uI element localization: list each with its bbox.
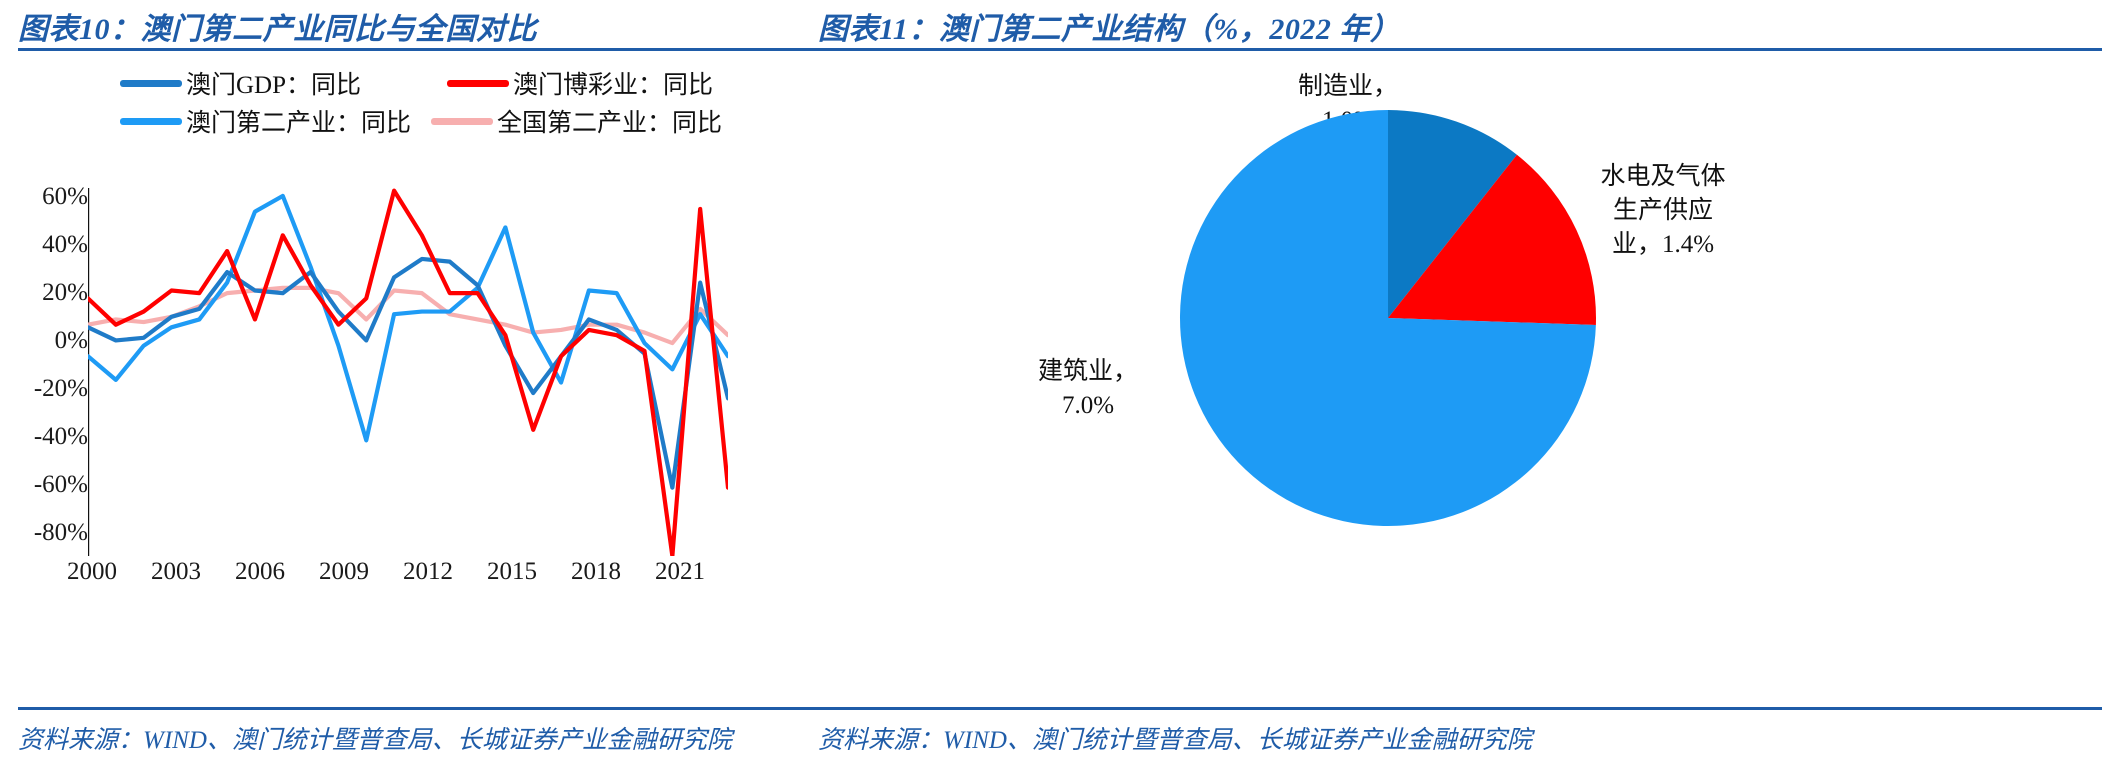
xtick-label-6: 2018 — [554, 558, 638, 586]
pie-label-construction: 建筑业， 7.0% — [988, 355, 1188, 423]
figure-11-footer-rule — [818, 707, 2102, 710]
figure-11-source: 资料来源：WIND、澳门统计暨普查局、长城证券产业金融研究院 — [818, 720, 1532, 756]
legend-label-national-secondary: 全国第二产业：同比 — [497, 103, 722, 139]
legend-row-2: 澳门第二产业：同比 全国第二产业：同比 — [10, 102, 730, 140]
figure-10-title: 图表10：澳门第二产业同比与全国对比 — [18, 4, 537, 48]
legend-row-1: 澳门GDP：同比 澳门博彩业：同比 — [10, 64, 730, 102]
legend-swatch-gaming — [447, 80, 509, 87]
ytick-label-1: 40% — [10, 231, 88, 259]
xtick-label-7: 2021 — [638, 558, 722, 586]
legend-label-gaming: 澳门博彩业：同比 — [513, 65, 713, 101]
legend-item-macau-gdp: 澳门GDP：同比 — [120, 65, 361, 101]
legend-item-national-secondary: 全国第二产业：同比 — [431, 103, 722, 139]
figure-11-panel: 图表11：澳门第二产业结构（%，2022 年） 制造业， 1.0% 水电及气体 … — [1058, 0, 2116, 774]
pie-chart-plot — [1178, 108, 1598, 528]
xtick-label-4: 2012 — [386, 558, 470, 586]
ytick-label-7: -80% — [10, 519, 88, 547]
legend-swatch-macau-secondary — [120, 118, 182, 125]
figure-11-title-rule — [818, 48, 2102, 51]
xtick-label-0: 2000 — [50, 558, 134, 586]
xtick-label-2: 2006 — [218, 558, 302, 586]
figure-11-title: 图表11：澳门第二产业结构（%，2022 年） — [818, 4, 1400, 48]
legend-swatch-macau-gdp — [120, 80, 182, 87]
figures-page: 图表10：澳门第二产业同比与全国对比 澳门GDP：同比 澳门博彩业：同比 — [0, 0, 2116, 774]
xtick-label-1: 2003 — [134, 558, 218, 586]
ytick-label-4: -20% — [10, 375, 88, 403]
ytick-label-5: -40% — [10, 423, 88, 451]
xtick-label-5: 2015 — [470, 558, 554, 586]
xtick-label-3: 2009 — [302, 558, 386, 586]
figure-10-source: 资料来源：WIND、澳门统计暨普查局、长城证券产业金融研究院 — [18, 720, 732, 756]
legend-swatch-national-secondary — [431, 118, 493, 125]
ytick-label-6: -60% — [10, 471, 88, 499]
figure-10-chart: 澳门GDP：同比 澳门博彩业：同比 澳门第二产业：同比 全国第二产业：同比 — [10, 58, 750, 678]
ytick-label-2: 20% — [10, 279, 88, 307]
ytick-label-3: 0% — [10, 327, 88, 355]
legend-item-gaming: 澳门博彩业：同比 — [447, 65, 713, 101]
figure-11-chart: 制造业， 1.0% 水电及气体 生产供应 业，1.4% 建筑业， 7.0% — [848, 60, 1868, 660]
line-chart-plot — [88, 188, 728, 556]
legend-label-macau-secondary: 澳门第二产业：同比 — [186, 103, 411, 139]
ytick-label-0: 60% — [10, 183, 88, 211]
legend-label-macau-gdp: 澳门GDP：同比 — [186, 65, 361, 101]
line-series-3 — [88, 288, 728, 343]
legend-item-macau-secondary: 澳门第二产业：同比 — [120, 103, 411, 139]
line-chart-legend: 澳门GDP：同比 澳门博彩业：同比 澳门第二产业：同比 全国第二产业：同比 — [10, 64, 730, 140]
line-series-1 — [88, 191, 728, 556]
line-series-2 — [88, 196, 728, 440]
